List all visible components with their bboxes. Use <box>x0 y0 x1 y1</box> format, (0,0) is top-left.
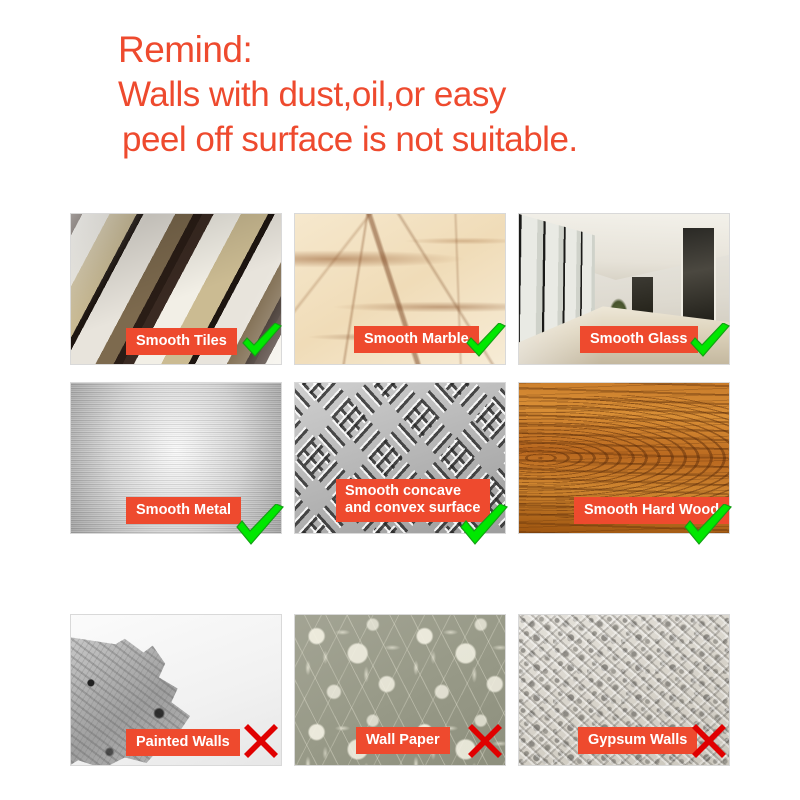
glass-far-wall <box>632 277 653 316</box>
surface-tile-smooth-metal[interactable]: Smooth Metal <box>70 382 282 534</box>
surface-tile-gypsum-walls[interactable]: Gypsum Walls <box>518 614 730 766</box>
surface-label: Wall Paper <box>356 727 450 754</box>
warning-line-1: Walls with dust,oil,or easy <box>118 72 758 117</box>
surface-label-line-2: and convex surface <box>345 500 480 516</box>
warning-line-2: peel off surface is not suitable. <box>118 117 758 162</box>
surface-label: Smooth Metal <box>126 497 241 524</box>
surface-label: Smooth Marble <box>354 326 479 353</box>
surface-tile-smooth-marble[interactable]: Smooth Marble <box>294 213 506 365</box>
surface-label: Smooth concave and convex surface <box>336 479 490 522</box>
surface-grid: Smooth Tiles Smooth Marble <box>70 213 730 766</box>
surface-tile-smooth-hard-wood[interactable]: Smooth Hard Wood <box>518 382 730 534</box>
surface-row-suitable-1: Smooth Tiles Smooth Marble <box>70 213 730 365</box>
remind-header: Remind: Walls with dust,oil,or easy peel… <box>118 28 758 162</box>
surface-row-unsuitable: Painted Walls Wall Paper Gypsum Walls <box>70 614 730 766</box>
surface-label: Smooth Tiles <box>126 328 237 355</box>
surface-tile-smooth-tiles[interactable]: Smooth Tiles <box>70 213 282 365</box>
surface-tile-smooth-concave-convex[interactable]: Smooth concave and convex surface <box>294 382 506 534</box>
page-title: Remind: <box>118 28 758 72</box>
surface-label: Smooth Glass <box>580 326 698 353</box>
surface-tile-wall-paper[interactable]: Wall Paper <box>294 614 506 766</box>
surface-label: Gypsum Walls <box>578 727 697 754</box>
surface-label: Painted Walls <box>126 729 240 756</box>
surface-label-line-1: Smooth concave <box>345 483 461 499</box>
surface-label: Smooth Hard Wood <box>574 497 729 524</box>
surface-tile-smooth-glass[interactable]: Smooth Glass <box>518 213 730 365</box>
surface-row-suitable-2: Smooth Metal Smooth concave and convex s… <box>70 382 730 534</box>
surface-tile-painted-walls[interactable]: Painted Walls <box>70 614 282 766</box>
